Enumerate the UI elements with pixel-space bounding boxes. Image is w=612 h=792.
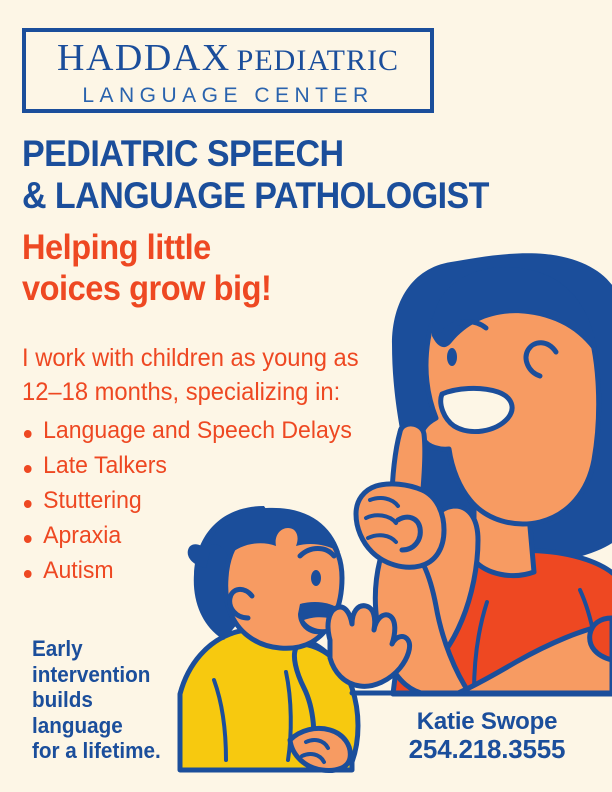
service-label: Late Talkers	[43, 452, 167, 479]
tagline-line-4: language	[32, 713, 197, 739]
logo-word-primary: HADDAX	[57, 37, 231, 79]
page-subtitle: Helping little voices grow big!	[22, 227, 431, 310]
tagline-block: Early intervention builds language for a…	[32, 636, 197, 764]
service-label: Language and Speech Delays	[43, 417, 352, 444]
services-list: Language and Speech Delays Late Talkers …	[22, 419, 435, 594]
bullet-dot-icon	[24, 430, 32, 438]
flyer-page: HADDAXPEDIATRIC LANGUAGE CENTER PEDIATRI…	[0, 0, 612, 792]
contact-phone[interactable]: 254.218.3555	[382, 735, 592, 764]
lede-line-2: 12–18 months, specializing in:	[22, 375, 450, 409]
tagline-line-1: Early	[32, 636, 197, 662]
contact-name: Katie Swope	[382, 708, 592, 735]
bullet-dot-icon	[24, 535, 32, 543]
page-title: PEDIATRIC SPEECH & LANGUAGE PATHOLOGIST	[22, 133, 519, 217]
logo-subtitle: LANGUAGE CENTER	[26, 85, 430, 106]
service-label: Apraxia	[43, 522, 121, 549]
list-item: Stuttering	[22, 489, 435, 524]
bullet-dot-icon	[24, 500, 32, 508]
logo-word-secondary: PEDIATRIC	[237, 44, 399, 77]
bullet-dot-icon	[24, 570, 32, 578]
list-item: Apraxia	[22, 524, 435, 559]
service-label: Stuttering	[43, 487, 142, 514]
subhead-line-1: Helping little	[22, 227, 431, 268]
waving-hand	[328, 606, 410, 687]
service-label: Autism	[43, 557, 113, 584]
tagline-line-2: intervention	[32, 662, 197, 688]
list-item: Late Talkers	[22, 454, 435, 489]
headline-line-1: PEDIATRIC SPEECH	[22, 133, 519, 175]
list-item: Autism	[22, 559, 435, 594]
list-item: Language and Speech Delays	[22, 419, 435, 454]
logo-wordmark: HADDAXPEDIATRIC	[26, 39, 430, 77]
bullet-dot-icon	[24, 465, 32, 473]
tagline-line-3: builds	[32, 687, 197, 713]
lede-line-1: I work with children as young as	[22, 341, 450, 375]
headline-line-2: & LANGUAGE PATHOLOGIST	[22, 175, 519, 217]
intro-paragraph: I work with children as young as 12–18 m…	[22, 341, 450, 409]
tagline-line-5: for a lifetime.	[32, 738, 197, 764]
brand-logo: HADDAXPEDIATRIC LANGUAGE CENTER	[22, 28, 434, 113]
subhead-line-2: voices grow big!	[22, 268, 431, 309]
contact-block: Katie Swope 254.218.3555	[382, 708, 592, 764]
